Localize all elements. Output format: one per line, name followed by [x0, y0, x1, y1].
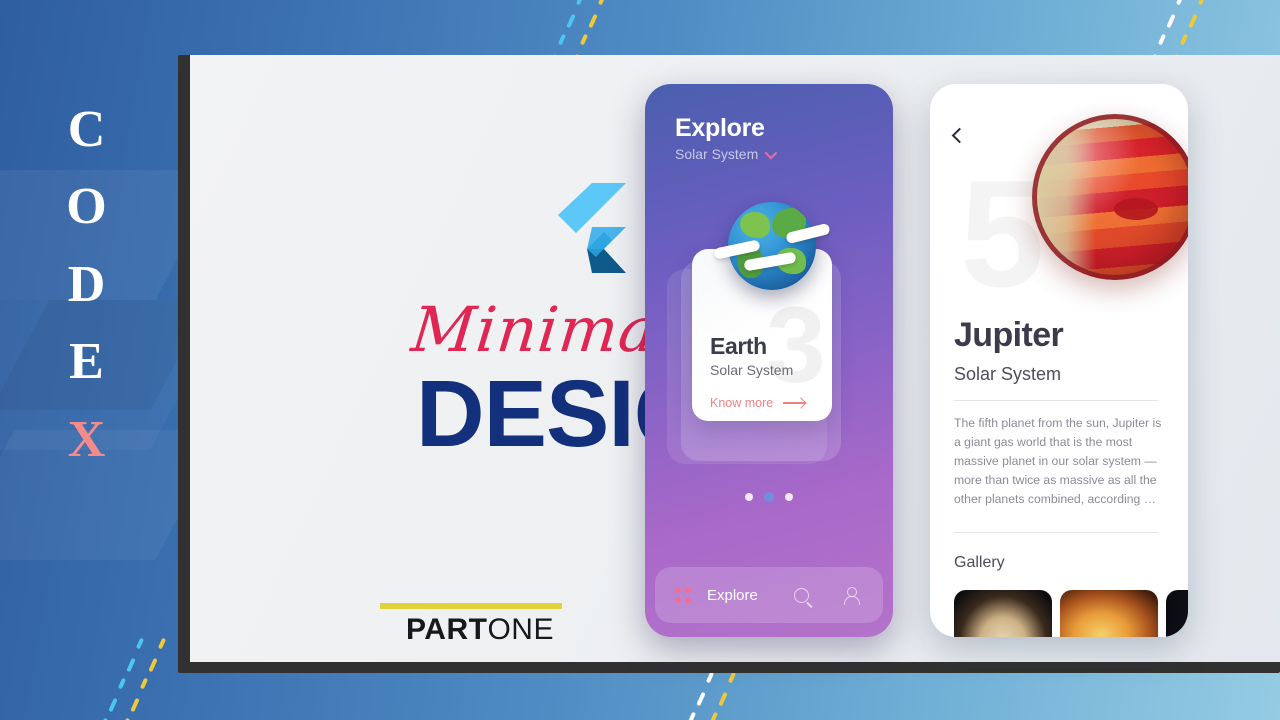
decor-dash	[158, 638, 166, 650]
decor-dash	[718, 692, 727, 706]
bottom-navigation-bar: Explore	[655, 567, 883, 623]
decor-dash	[126, 658, 135, 672]
script-title: Minimal	[408, 293, 681, 366]
decor-dash	[598, 0, 606, 5]
explore-title: Explore	[675, 114, 765, 143]
codex-letter-o: O	[60, 182, 114, 231]
know-more-label: Know more	[710, 396, 773, 410]
decor-dash	[148, 658, 157, 672]
decor-dash	[1166, 14, 1175, 28]
jupiter-globe-icon	[1032, 114, 1188, 280]
decor-dash	[706, 672, 714, 684]
phone-mockup-jupiter: 5 Jupiter Solar System The fifth planet …	[930, 84, 1188, 637]
decor-dash	[136, 638, 144, 650]
card-watermark-number: 3	[766, 291, 826, 399]
decor-dash	[140, 678, 148, 690]
decor-dash	[710, 712, 718, 720]
codex-letter-c: C	[60, 105, 114, 154]
codex-letter-d: D	[60, 260, 114, 309]
explore-subtitle-row[interactable]: Solar System	[675, 146, 774, 162]
dash-cluster-bottom-center	[690, 672, 800, 720]
detail-description: The fifth planet from the sun, Jupiter i…	[954, 414, 1164, 509]
decor-dash	[576, 0, 584, 5]
explore-subtitle: Solar System	[675, 146, 758, 162]
gallery-thumbnail[interactable]	[954, 590, 1052, 637]
part-label: PARTONE	[406, 613, 554, 647]
planet-rim	[1032, 114, 1188, 280]
decor-dash	[558, 34, 566, 46]
gallery-thumbnail[interactable]	[1166, 590, 1188, 637]
decor-dash	[688, 712, 696, 720]
codex-letter-e: E	[60, 337, 114, 386]
arrow-right-icon	[783, 402, 805, 404]
divider	[954, 532, 1158, 533]
pagination-dot[interactable]	[785, 493, 793, 501]
part-label-thin: ONE	[487, 613, 554, 647]
person-icon[interactable]	[843, 587, 859, 604]
decor-dash	[566, 14, 575, 28]
detail-planet-name: Jupiter	[954, 316, 1063, 355]
decor-dash	[696, 692, 705, 706]
decor-dash	[1198, 0, 1206, 5]
gallery-thumbnails	[954, 590, 1188, 637]
decor-dash	[728, 672, 736, 684]
decor-dash	[1180, 34, 1188, 46]
decor-dash	[108, 698, 117, 712]
decor-dash	[588, 14, 597, 28]
chevron-down-icon[interactable]	[765, 146, 778, 159]
flutter-logo-icon	[548, 183, 626, 273]
search-icon[interactable]	[794, 588, 809, 603]
decor-dash	[1188, 14, 1197, 28]
decor-dash	[130, 698, 139, 712]
nav-explore-label[interactable]: Explore	[707, 587, 778, 604]
decor-dash	[1158, 34, 1166, 46]
grid-dots-icon[interactable]	[675, 587, 691, 603]
phone-mockup-explore: Explore Solar System 3 Earth Solar Syste…	[645, 84, 893, 637]
decor-dash	[580, 34, 588, 46]
pagination-dot-active[interactable]	[764, 492, 774, 502]
card-planet-name: Earth	[710, 333, 767, 360]
decor-dash	[118, 678, 126, 690]
divider	[954, 400, 1158, 401]
gallery-thumbnail[interactable]	[1060, 590, 1158, 637]
gallery-label: Gallery	[954, 554, 1005, 572]
know-more-link[interactable]: Know more	[710, 396, 805, 410]
landmass	[740, 212, 770, 238]
footer-rule	[380, 603, 562, 609]
pagination-dot[interactable]	[745, 493, 753, 501]
part-label-bold: PART	[406, 613, 487, 647]
decor-dash	[1176, 0, 1184, 5]
codex-letter-x: X	[60, 415, 114, 464]
pagination-dots[interactable]	[645, 493, 893, 502]
card-planet-subtitle: Solar System	[710, 362, 793, 378]
detail-planet-subtitle: Solar System	[954, 364, 1061, 385]
codex-vertical-logo: C O D E X	[60, 105, 114, 464]
chevron-left-icon[interactable]	[952, 128, 968, 144]
